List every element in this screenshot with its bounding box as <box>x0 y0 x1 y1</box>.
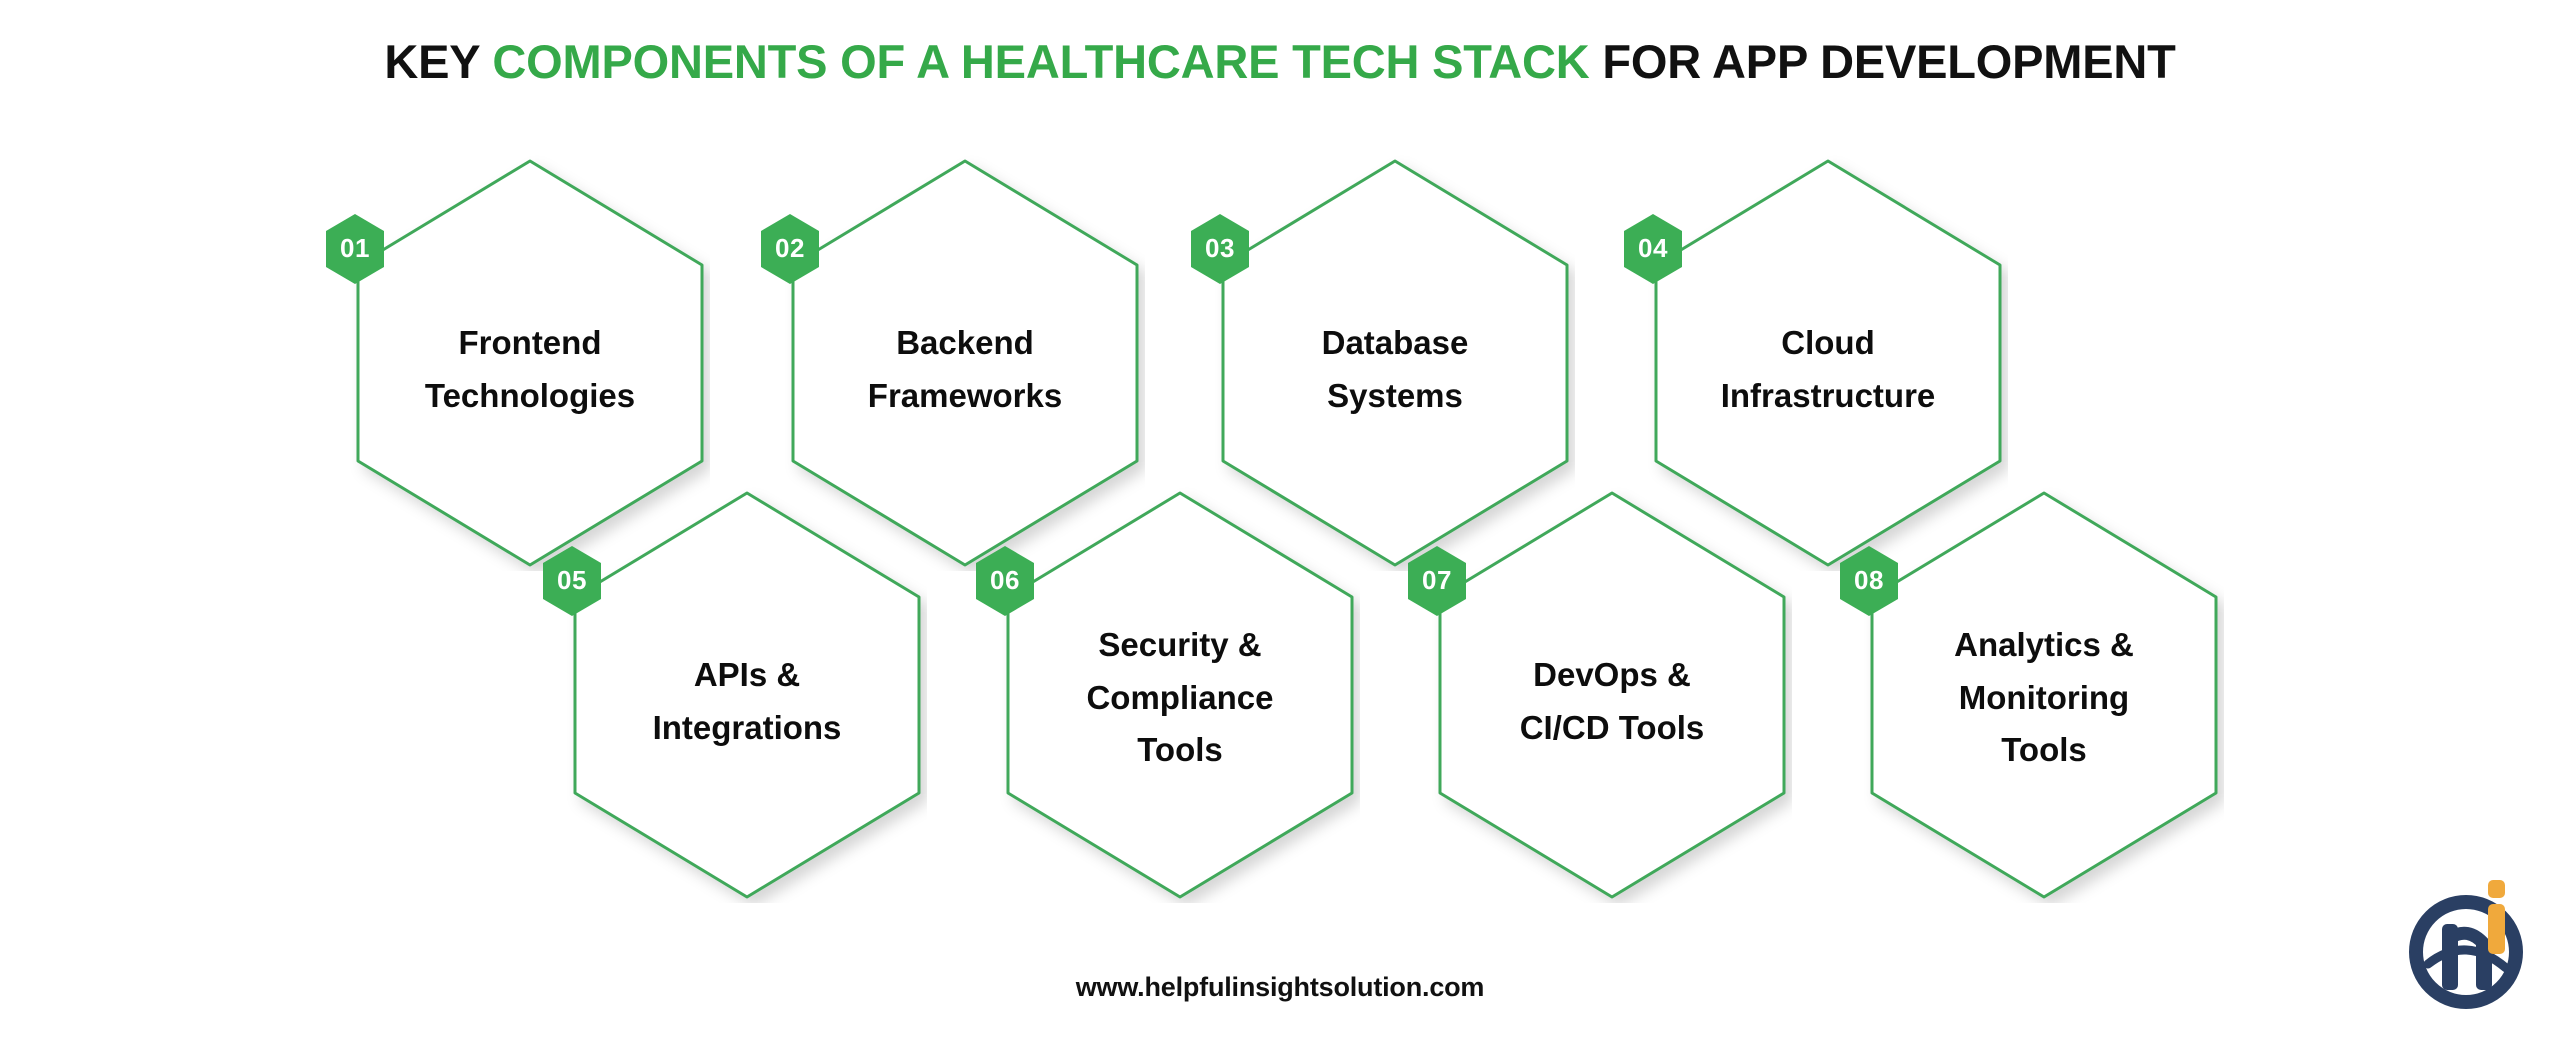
component-card-05[interactable]: APIs & Integrations 05 <box>567 487 927 903</box>
component-label-line: Infrastructure <box>1721 376 1936 417</box>
component-label-08: Analytics & Monitoring Tools <box>1876 487 2212 903</box>
component-number-text: 02 <box>759 213 821 285</box>
component-label-line: Cloud <box>1781 323 1874 364</box>
component-label-line: Frontend <box>459 323 602 364</box>
component-card-06[interactable]: Security & Compliance Tools 06 <box>1000 487 1360 903</box>
component-label-05: APIs & Integrations <box>579 487 915 903</box>
website-url: www.helpfulinsightsolution.com <box>0 972 2560 1003</box>
helpful-insight-logo-icon <box>2406 876 2534 1014</box>
component-label-line: Technologies <box>425 376 635 417</box>
component-number-badge-07: 07 <box>1406 545 1468 617</box>
component-number-text: 08 <box>1838 545 1900 617</box>
hexagon-board: Frontend Technologies 01 Backend Framewo… <box>0 0 2560 1040</box>
component-number-text: 03 <box>1189 213 1251 285</box>
component-number-badge-06: 06 <box>974 545 1036 617</box>
company-logo <box>2406 876 2534 1014</box>
component-label-line: CI/CD Tools <box>1520 708 1705 749</box>
component-number-badge-08: 08 <box>1838 545 1900 617</box>
component-card-07[interactable]: DevOps & CI/CD Tools 07 <box>1432 487 1792 903</box>
component-number-text: 04 <box>1622 213 1684 285</box>
component-label-line: Tools <box>2001 730 2087 771</box>
component-label-line: DevOps & <box>1533 655 1691 696</box>
component-number-text: 05 <box>541 545 603 617</box>
component-number-text: 06 <box>974 545 1036 617</box>
component-label-line: Security & <box>1098 625 1261 666</box>
component-label-line: APIs & <box>694 655 800 696</box>
component-label-line: Database <box>1322 323 1469 364</box>
component-number-badge-04: 04 <box>1622 213 1684 285</box>
component-number-badge-03: 03 <box>1189 213 1251 285</box>
component-label-line: Compliance <box>1086 678 1273 719</box>
component-number-text: 07 <box>1406 545 1468 617</box>
component-number-text: 01 <box>324 213 386 285</box>
component-number-badge-01: 01 <box>324 213 386 285</box>
component-label-line: Backend <box>896 323 1034 364</box>
component-label-line: Integrations <box>653 708 842 749</box>
component-label-07: DevOps & CI/CD Tools <box>1444 487 1780 903</box>
component-label-06: Security & Compliance Tools <box>1012 487 1348 903</box>
component-card-08[interactable]: Analytics & Monitoring Tools 08 <box>1864 487 2224 903</box>
component-number-badge-02: 02 <box>759 213 821 285</box>
component-label-line: Analytics & <box>1954 625 2134 666</box>
component-label-line: Tools <box>1137 730 1223 771</box>
component-number-badge-05: 05 <box>541 545 603 617</box>
component-label-line: Frameworks <box>868 376 1062 417</box>
component-label-line: Monitoring <box>1959 678 2129 719</box>
infographic-canvas: KEY COMPONENTS OF A HEALTHCARE TECH STAC… <box>0 0 2560 1040</box>
component-label-line: Systems <box>1327 376 1463 417</box>
